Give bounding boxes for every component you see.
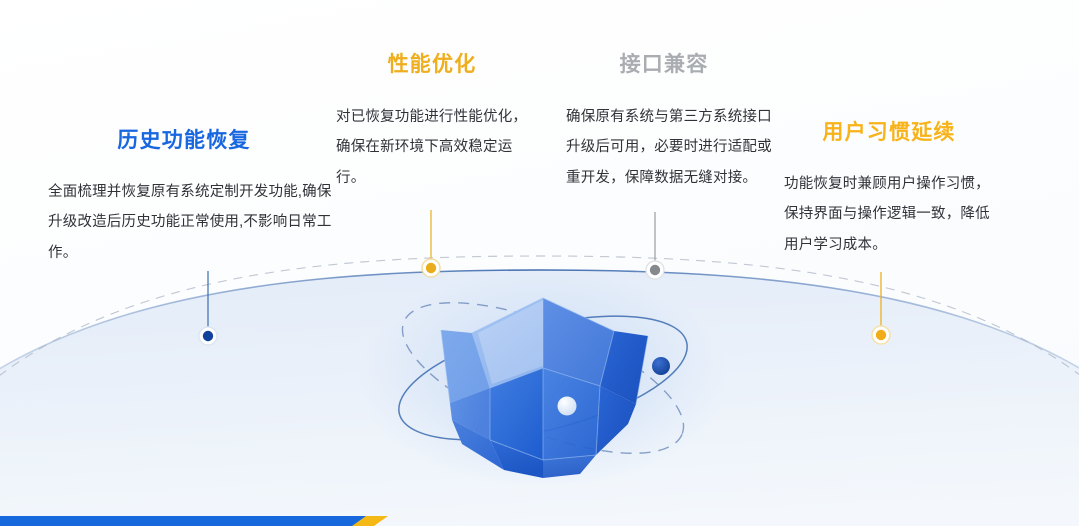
feature-title-1: 历史功能恢复 <box>48 128 320 153</box>
feature-body-3: 确保原有系统与第三方系统接口升级后可用，必要时进行适配或重开发，保障数据无缝对接… <box>566 102 774 192</box>
connector-marker-2 <box>426 263 436 273</box>
connector-marker-3 <box>650 265 660 275</box>
bottom-bar-blue-segment <box>0 516 366 526</box>
feature-body-2: 对已恢复功能进行性能优化，确保在新环境下高效稳定运行。 <box>336 102 532 192</box>
infographic-slide: 历史功能恢复 全面梳理并恢复原有系统定制开发功能,确保升级改造后历史功能正常使用… <box>0 0 1079 526</box>
bottom-accent-bar <box>0 516 1079 526</box>
feature-block-interface-compatibility: 接口兼容 确保原有系统与第三方系统接口升级后可用，必要时进行适配或重开发，保障数… <box>566 52 776 193</box>
connector-marker-1 <box>203 331 213 341</box>
feature-body-1: 全面梳理并恢复原有系统定制开发功能,确保升级改造后历史功能正常使用,不影响日常工… <box>48 177 346 267</box>
feature-title-2: 性能优化 <box>336 52 528 77</box>
feature-body-4: 功能恢复时兼顾用户操作习惯，保持界面与操作逻辑一致，降低用户学习成本。 <box>776 169 1002 259</box>
feature-block-history-function-recovery: 历史功能恢复 全面梳理并恢复原有系统定制开发功能,确保升级改造后历史功能正常使用… <box>48 128 348 268</box>
feature-block-user-habit-continuity: 用户习惯延续 功能恢复时兼顾用户操作习惯，保持界面与操作逻辑一致，降低用户学习成… <box>776 120 1006 260</box>
feature-block-performance-optimization: 性能优化 对已恢复功能进行性能优化，确保在新环境下高效稳定运行。 <box>336 52 536 193</box>
connector-marker-4 <box>876 330 886 340</box>
orbit-node-dark <box>652 357 670 375</box>
feature-title-4: 用户习惯延续 <box>776 120 1002 145</box>
feature-title-3: 接口兼容 <box>566 52 762 77</box>
orbit-node-light <box>558 397 577 416</box>
